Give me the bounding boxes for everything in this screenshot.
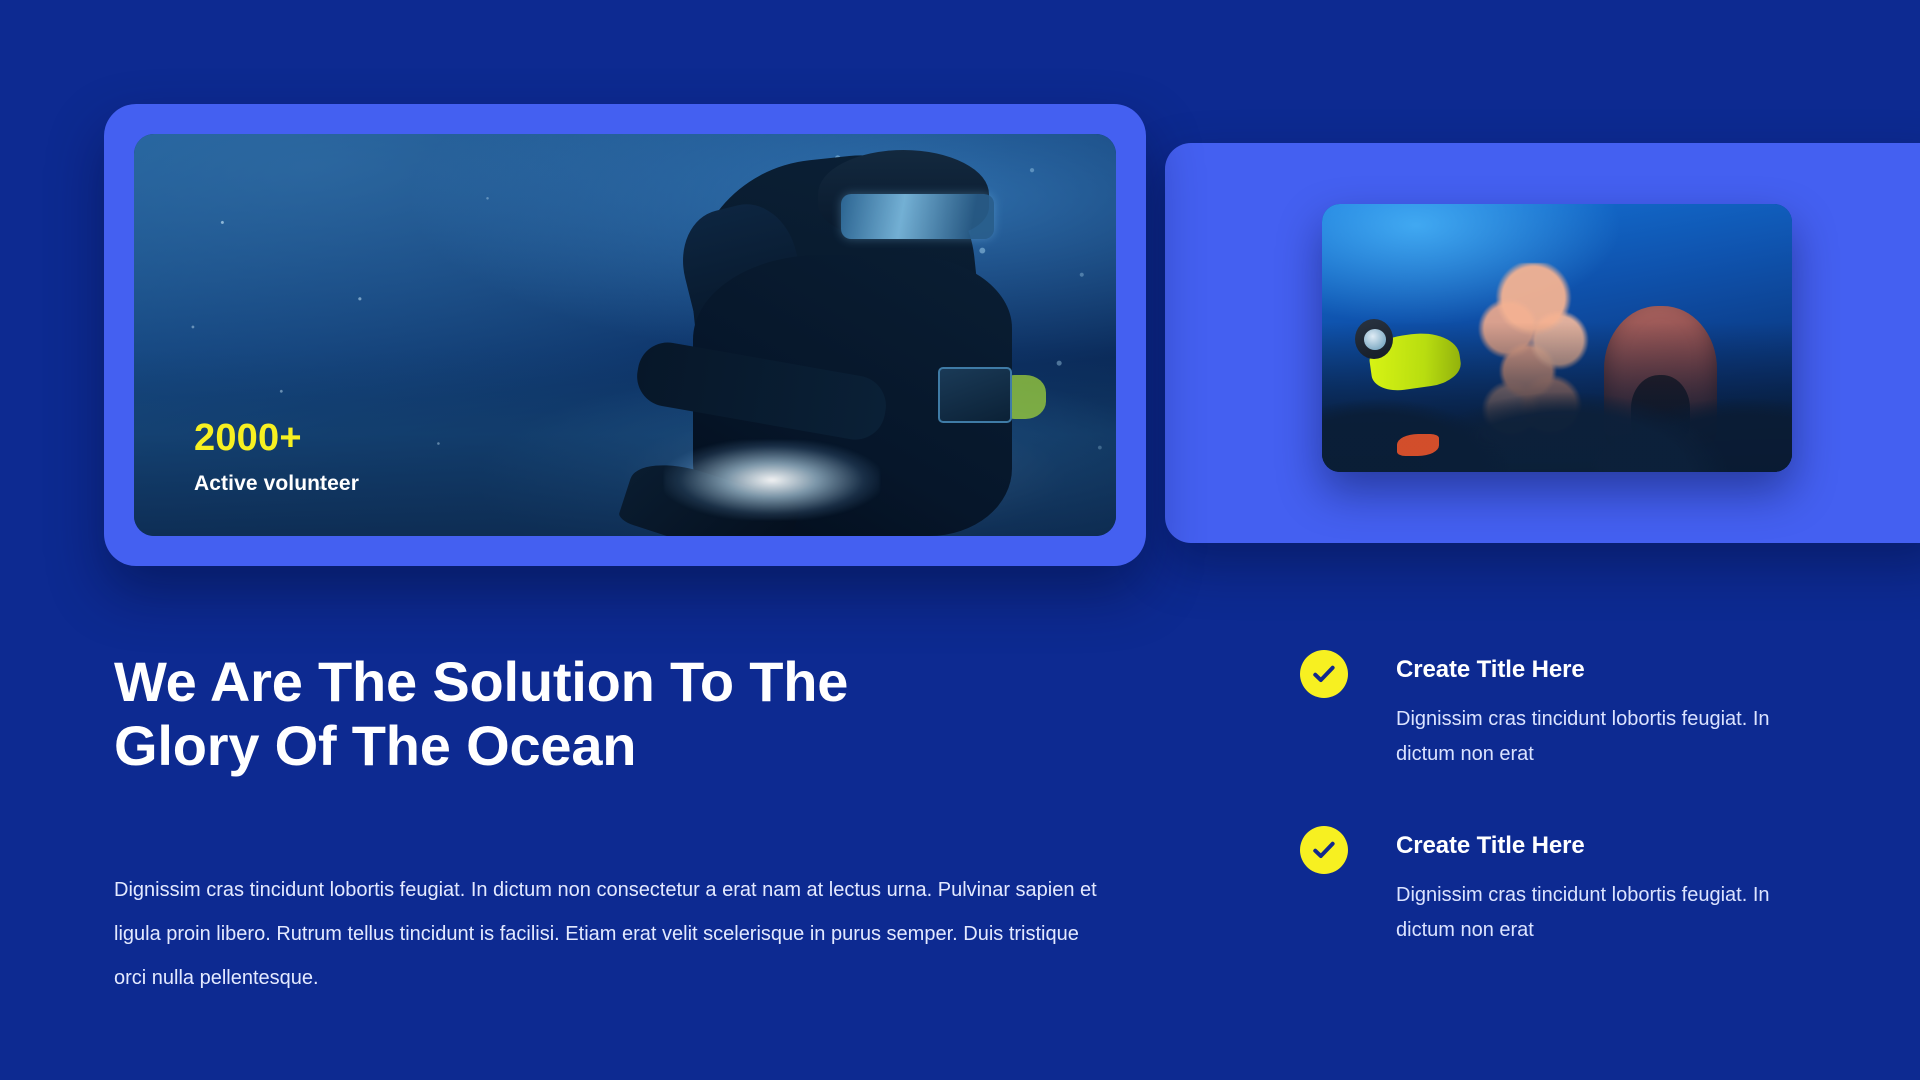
- lead-paragraph: Dignissim cras tincidunt lobortis feugia…: [114, 868, 1114, 1000]
- page-title: We Are The Solution To The Glory Of The …: [114, 650, 994, 778]
- headline-line-1: We Are The Solution To The: [114, 650, 848, 713]
- check-circle-icon: [1300, 826, 1348, 874]
- torch-beam-icon: [664, 440, 880, 520]
- stat-number: 2000+: [194, 418, 359, 460]
- check-circle-icon: [1300, 650, 1348, 698]
- stat-overlay: 2000+ Active volunteer: [194, 418, 359, 496]
- feature-item: Create Title Here Dignissim cras tincidu…: [1300, 648, 1820, 772]
- hero-photo-image: 2000+ Active volunteer: [134, 134, 1116, 536]
- slide-root: 2000+ Active volunteer We Are The Soluti…: [0, 0, 1920, 1080]
- hero-photo-card: 2000+ Active volunteer: [104, 104, 1146, 566]
- feature-description: Dignissim cras tincidunt lobortis feugia…: [1396, 878, 1776, 948]
- feature-title: Create Title Here: [1396, 648, 1820, 684]
- feature-item: Create Title Here Dignissim cras tincidu…: [1300, 824, 1820, 948]
- feature-title: Create Title Here: [1396, 824, 1820, 860]
- reef-diver-figure: [1350, 311, 1463, 407]
- feature-description: Dignissim cras tincidunt lobortis feugia…: [1396, 702, 1776, 772]
- feature-list: Create Title Here Dignissim cras tincidu…: [1300, 648, 1820, 1000]
- headline-line-2: Glory Of The Ocean: [114, 714, 636, 777]
- stat-label: Active volunteer: [194, 472, 359, 496]
- coral-photo-card: [1322, 204, 1792, 472]
